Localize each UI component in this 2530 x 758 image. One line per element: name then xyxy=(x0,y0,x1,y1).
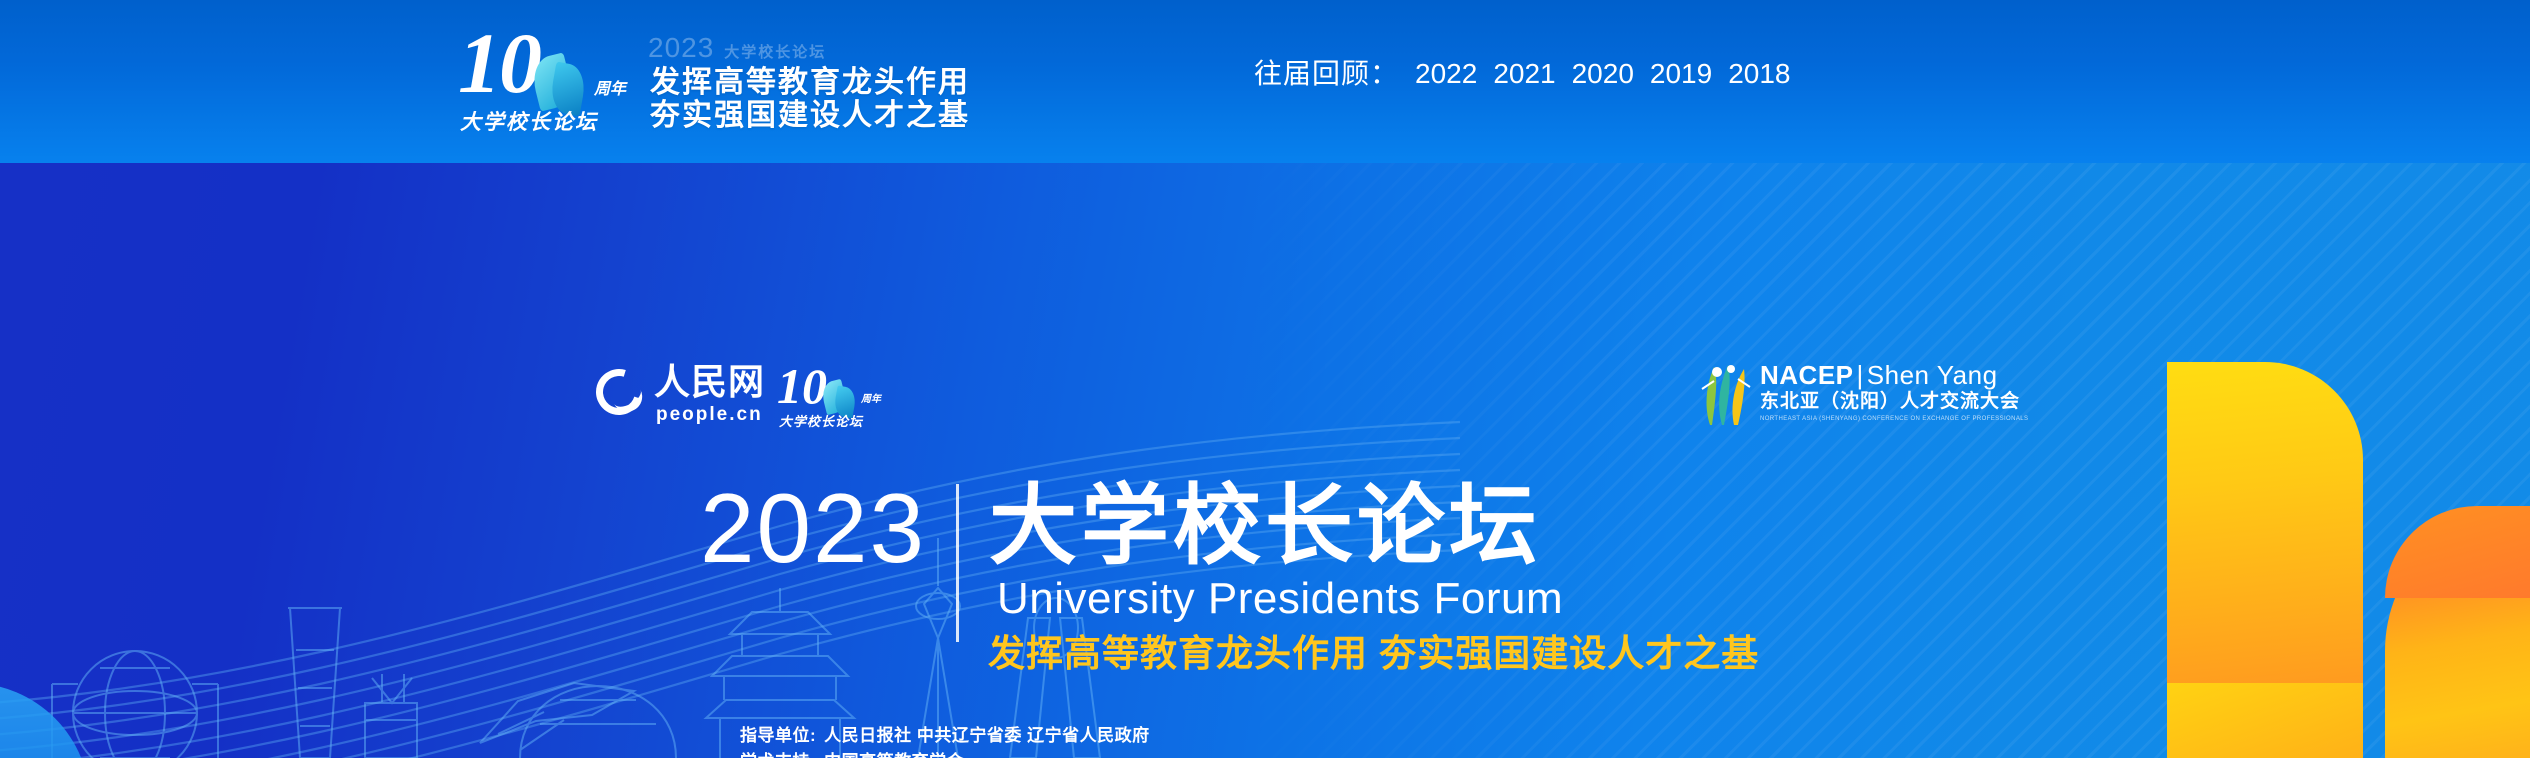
nacep-name-cn: 东北亚（沈阳）人才交流大会 xyxy=(1760,391,2028,413)
nacep-logo[interactable]: NACEP|Shen Yang 东北亚（沈阳）人才交流大会 NORTHEAST … xyxy=(1700,361,1960,435)
past-sessions-label: 往届回顾： xyxy=(1254,58,1399,89)
site-header: 10 周年 大学校长论坛 2023大学校长论坛 发挥高等教育龙头作用 夯实强国建… xyxy=(0,0,2530,163)
past-sessions-nav: 往届回顾：20222021202020192018 xyxy=(1254,58,2530,104)
people-cn-domain: people.cn xyxy=(656,405,763,425)
nacep-figures-icon xyxy=(1700,363,1752,427)
anniversary-forum-name: 大学校长论坛 xyxy=(460,112,598,134)
nav-year-2019[interactable]: 2019 xyxy=(1650,58,1712,89)
banner-title-row: 2023 大学校长论坛 xyxy=(700,478,1541,588)
banner-title-main: 大学校长论坛 xyxy=(989,478,1541,574)
anniversary-forum-name: 大学校长论坛 xyxy=(779,415,863,429)
anniversary-number: 10 xyxy=(777,361,827,411)
credit-row: 学术支持:中国高等教育学会 xyxy=(740,749,1778,758)
header-slogan: 发挥高等教育龙头作用 夯实强国建设人才之基 xyxy=(650,66,970,132)
credit-key: 指导单位: xyxy=(740,726,816,745)
page-root: 10 周年 大学校长论坛 2023大学校长论坛 发挥高等教育龙头作用 夯实强国建… xyxy=(0,0,2530,758)
banner-credits: 指导单位:人民日报社 中共辽宁省委 辽宁省人民政府 学术支持:中国高等教育学会 … xyxy=(740,723,1778,758)
title-divider-rule xyxy=(956,484,959,642)
banner-slogan: 发挥高等教育龙头作用 夯实强国建设人才之基 xyxy=(988,633,1759,675)
nacep-city: Shen Yang xyxy=(1867,360,1998,390)
anniversary-years-label: 周年 xyxy=(594,82,626,98)
people-cn-logo[interactable]: 人民网 people.cn xyxy=(596,363,786,433)
banner-title-subtitle-en: University Presidents Forum xyxy=(997,575,1563,623)
nav-year-2021[interactable]: 2021 xyxy=(1493,58,1555,89)
nacep-name-en: NORTHEAST ASIA (SHENYANG) CONFERENCE ON … xyxy=(1760,415,2028,423)
credit-value: 人民日报社 中共辽宁省委 辽宁省人民政府 xyxy=(824,726,1149,745)
header-logo-group: 10 周年 大学校长论坛 2023大学校长论坛 发挥高等教育龙头作用 夯实强国建… xyxy=(452,12,922,142)
header-ghost-text: 2023大学校长论坛 xyxy=(648,34,826,62)
header-anniversary-logo: 10 周年 大学校长论坛 xyxy=(452,20,630,136)
leaf-shape-large-highlight xyxy=(2167,683,2363,758)
anniversary-number: 10 xyxy=(458,20,540,106)
header-slogan-line1: 发挥高等教育龙头作用 xyxy=(650,66,970,99)
banner-title-year: 2023 xyxy=(700,478,926,578)
nav-year-2018[interactable]: 2018 xyxy=(1728,58,1790,89)
credit-key: 学术支持: xyxy=(740,752,816,758)
nacep-title-line: NACEP|Shen Yang xyxy=(1760,361,2028,389)
people-globe-icon xyxy=(588,361,650,423)
header-slogan-line2: 夯实强国建设人才之基 xyxy=(650,99,970,132)
banner-anniversary-logo: 10 周年 大学校长论坛 xyxy=(775,363,893,433)
credit-row: 指导单位:人民日报社 中共辽宁省委 辽宁省人民政府 xyxy=(740,723,1778,749)
nav-year-2020[interactable]: 2020 xyxy=(1572,58,1634,89)
ghost-forum-name: 大学校长论坛 xyxy=(724,44,826,61)
nacep-text-block: NACEP|Shen Yang 东北亚（沈阳）人才交流大会 NORTHEAST … xyxy=(1760,361,2028,423)
anniversary-years-label: 周年 xyxy=(861,395,881,405)
nav-year-2022[interactable]: 2022 xyxy=(1415,58,1477,89)
main-banner: 人民网 people.cn 10 周年 大学校长论坛 NACEP|She xyxy=(0,163,2530,758)
nacep-divider: | xyxy=(1854,360,1867,390)
ghost-year: 2023 xyxy=(648,32,714,63)
people-cn-name: 人民网 xyxy=(654,363,765,401)
credit-value: 中国高等教育学会 xyxy=(824,752,964,758)
nacep-acronym: NACEP xyxy=(1760,360,1854,390)
